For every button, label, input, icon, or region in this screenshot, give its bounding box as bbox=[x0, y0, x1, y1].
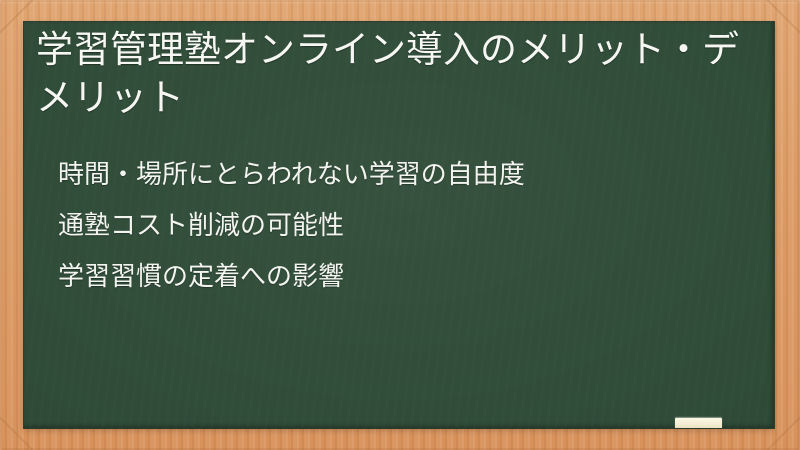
list-item: 通塾コスト削減の可能性 bbox=[58, 201, 748, 252]
slide-bullet-list: 時間・場所にとらわれない学習の自由度 通塾コスト削減の可能性 学習習慣の定着への… bbox=[58, 150, 748, 303]
chalk-stick-icon bbox=[675, 418, 722, 428]
list-item: 時間・場所にとらわれない学習の自由度 bbox=[58, 150, 748, 201]
chalkboard-surface: 学習管理塾オンライン導入のメリット・デメリット 時間・場所にとらわれない学習の自… bbox=[24, 22, 774, 428]
list-item: 学習習慣の定着への影響 bbox=[58, 252, 748, 303]
slide-canvas: 学習管理塾オンライン導入のメリット・デメリット 時間・場所にとらわれない学習の自… bbox=[0, 0, 800, 450]
slide-title: 学習管理塾オンライン導入のメリット・デメリット bbox=[36, 26, 748, 122]
